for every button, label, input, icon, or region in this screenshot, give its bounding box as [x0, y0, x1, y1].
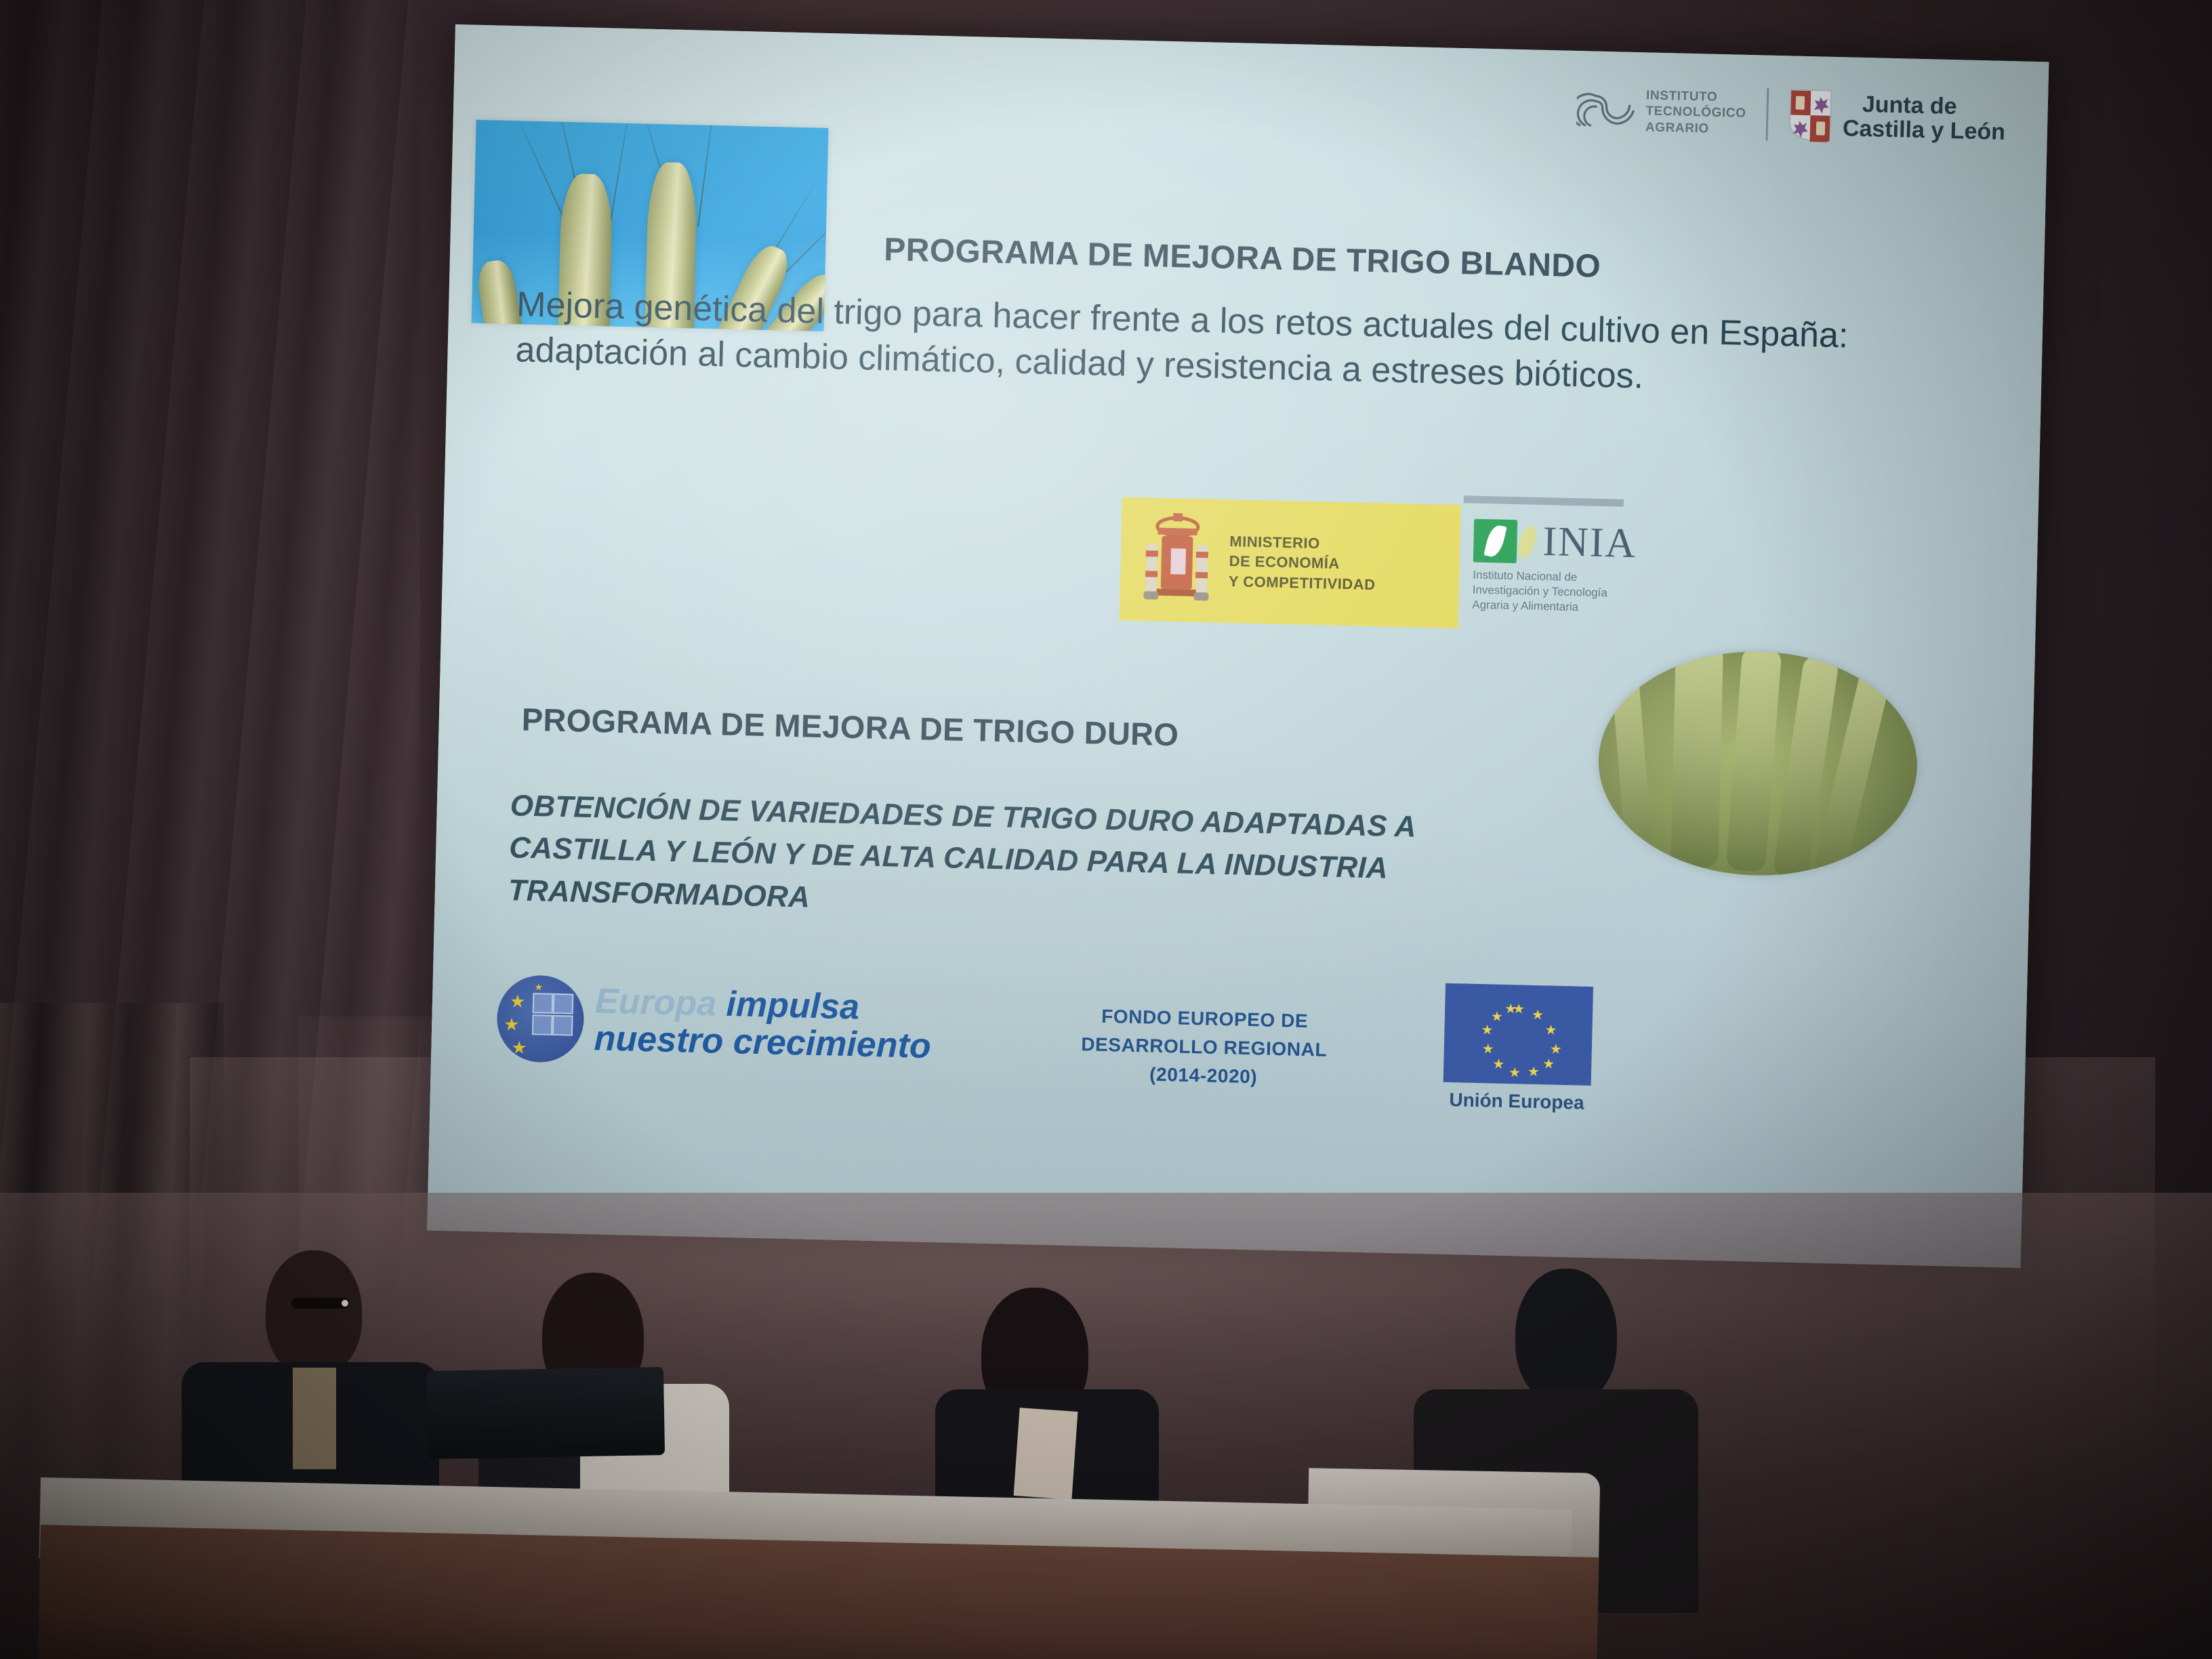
body-text-durum-wheat: OBTENCIÓN DE VARIEDADES DE TRIGO DURO AD…	[508, 785, 1418, 933]
funding-logos-ministry-inia: MINISTERIO DE ECONOMÍA Y COMPETITIVIDAD …	[1119, 487, 1624, 634]
inia-acronym: INIA	[1542, 523, 1637, 564]
ita-line3: AGRARIO	[1645, 119, 1746, 138]
europa-impulsa-logo: ★ ★ ★ ★ Europa impulsa nuestro crecimien…	[496, 975, 933, 1071]
inia-logo: INIA Instituto Nacional de Investigación…	[1472, 519, 1637, 617]
projection-screen: INSTITUTO TECNOLÓGICO AGRARIO	[427, 24, 2049, 1268]
ita-line2: TECNOLÓGICO	[1645, 104, 1746, 122]
green-wheat-ears-oval-photo	[1596, 648, 1920, 879]
impulsa-word: impulsa	[726, 985, 860, 1027]
instituto-tecnologico-agrario-logo: INSTITUTO TECNOLÓGICO AGRARIO	[1576, 86, 1747, 137]
inia-wordmark: INIA	[1473, 519, 1637, 567]
europa-word: Europa	[594, 981, 716, 1023]
slide-header-logos: INSTITUTO TECNOLÓGICO AGRARIO	[1576, 83, 2007, 146]
european-union-flag: ★ ★ ★ ★ ★ ★ ★ ★ ★ ★ ★ ★	[1443, 983, 1593, 1086]
feder-caption: FONDO EUROPEO DE DESARROLLO REGIONAL (20…	[1054, 1001, 1354, 1093]
jcyl-line2: Castilla y León	[1843, 115, 2006, 145]
ministerio-label: MINISTERIO DE ECONOMÍA Y COMPETITIVIDAD	[1229, 532, 1377, 594]
ita-label: INSTITUTO TECNOLÓGICO AGRARIO	[1645, 88, 1747, 138]
presentation-slide: INSTITUTO TECNOLÓGICO AGRARIO	[427, 24, 2049, 1268]
ita-line1: INSTITUTO	[1646, 88, 1747, 106]
inia-seed-icon	[1515, 523, 1539, 560]
page-title-soft-wheat: PROGRAMA DE MEJORA DE TRIGO BLANDO	[884, 231, 1914, 293]
junta-castilla-leon-logo: Junta de Castilla y León	[1788, 88, 2007, 146]
header-divider	[1766, 88, 1769, 141]
spanish-coat-of-arms-icon	[1136, 508, 1218, 612]
castilla-leon-shield-icon	[1788, 88, 1833, 142]
ministerio-economia-logo: MINISTERIO DE ECONOMÍA Y COMPETITIVIDAD	[1120, 497, 1461, 628]
european-union-block: ★ ★ ★ ★ ★ ★ ★ ★ ★ ★ ★ ★ Unión Europea	[1432, 983, 1604, 1114]
inia-top-rule	[1464, 495, 1624, 507]
laptop-screen	[426, 1367, 665, 1459]
inia-subtitle: Instituto Nacional de Investigación y Te…	[1472, 568, 1636, 617]
union-europea-caption: Unión Europea	[1432, 1088, 1602, 1114]
europa-impulsa-wordmark: Europa impulsa nuestro crecimiento	[594, 983, 932, 1065]
auditorium-scene: INSTITUTO TECNOLÓGICO AGRARIO	[0, 0, 2212, 1659]
inia-leaf-icon	[1473, 519, 1517, 563]
jcyl-label: Junta de Castilla y León	[1843, 91, 2007, 144]
ministerio-line3: Y COMPETITIVIDAD	[1229, 571, 1376, 594]
europa-impulsa-circle-icon: ★ ★ ★ ★	[496, 975, 585, 1063]
body-text-soft-wheat: Mejora genética del trigo para hacer fre…	[515, 282, 2028, 408]
page-title-durum-wheat: PROGRAMA DE MEJORA DE TRIGO DURO	[521, 701, 1471, 760]
ministerio-line2: DE ECONOMÍA	[1229, 552, 1376, 575]
ita-spiral-icon	[1576, 89, 1635, 132]
nuestro-crecimiento-line: nuestro crecimiento	[594, 1020, 931, 1065]
